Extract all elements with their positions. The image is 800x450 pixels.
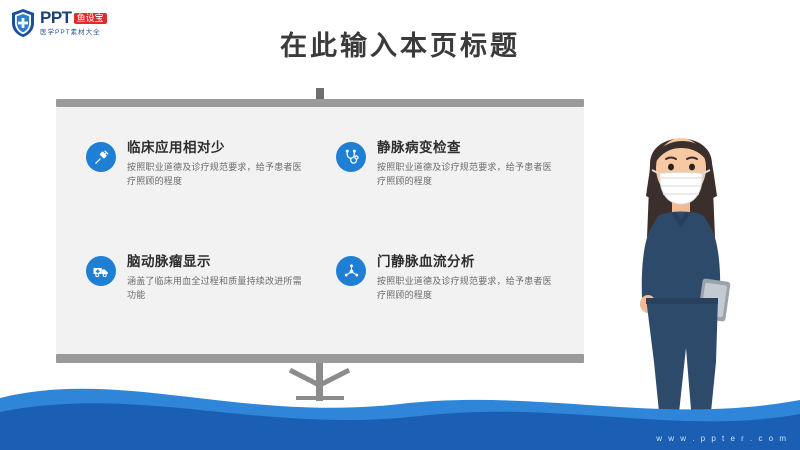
logo-badge: 鱼设宝 — [74, 13, 107, 24]
feature-title: 临床应用相对少 — [127, 140, 306, 156]
feature-desc: 涵盖了临床用血全过程和质量持续改进所需功能 — [127, 275, 306, 303]
feature-title: 门静脉血流分析 — [377, 254, 556, 270]
feature-item[interactable]: 脑动脉瘤显示 涵盖了临床用血全过程和质量持续改进所需功能 — [86, 254, 306, 340]
slide: PPT鱼设宝 医学PPT素材大全 在此输入本页标题 临床应用 — [0, 0, 800, 450]
feature-item[interactable]: 临床应用相对少 按照职业道德及诊疗规范要求，给予患者医疗照顾的程度 — [86, 140, 306, 226]
feature-item[interactable]: 静脉病变检查 按照职业道德及诊疗规范要求，给予患者医疗照顾的程度 — [336, 140, 556, 226]
feature-title: 静脉病变检查 — [377, 140, 556, 156]
stethoscope-icon — [336, 142, 366, 172]
syringe-icon — [86, 142, 116, 172]
page-title: 在此输入本页标题 — [0, 24, 800, 63]
footer-url: w w w . p p t e r . c o m — [656, 434, 788, 443]
feature-desc: 按照职业道德及诊疗规范要求，给予患者医疗照顾的程度 — [377, 161, 556, 189]
ambulance-icon — [86, 256, 116, 286]
feature-desc: 按照职业道德及诊疗规范要求，给予患者医疗照顾的程度 — [127, 161, 306, 189]
feature-item[interactable]: 门静脉血流分析 按照职业道德及诊疗规范要求，给予患者医疗照顾的程度 — [336, 254, 556, 340]
feature-grid: 临床应用相对少 按照职业道德及诊疗规范要求，给予患者医疗照顾的程度 静脉病变检查… — [86, 140, 556, 340]
feature-desc: 按照职业道德及诊疗规范要求，给予患者医疗照顾的程度 — [377, 275, 556, 303]
molecule-icon — [336, 256, 366, 286]
feature-title: 脑动脉瘤显示 — [127, 254, 306, 270]
screen-top-bar — [56, 99, 584, 107]
